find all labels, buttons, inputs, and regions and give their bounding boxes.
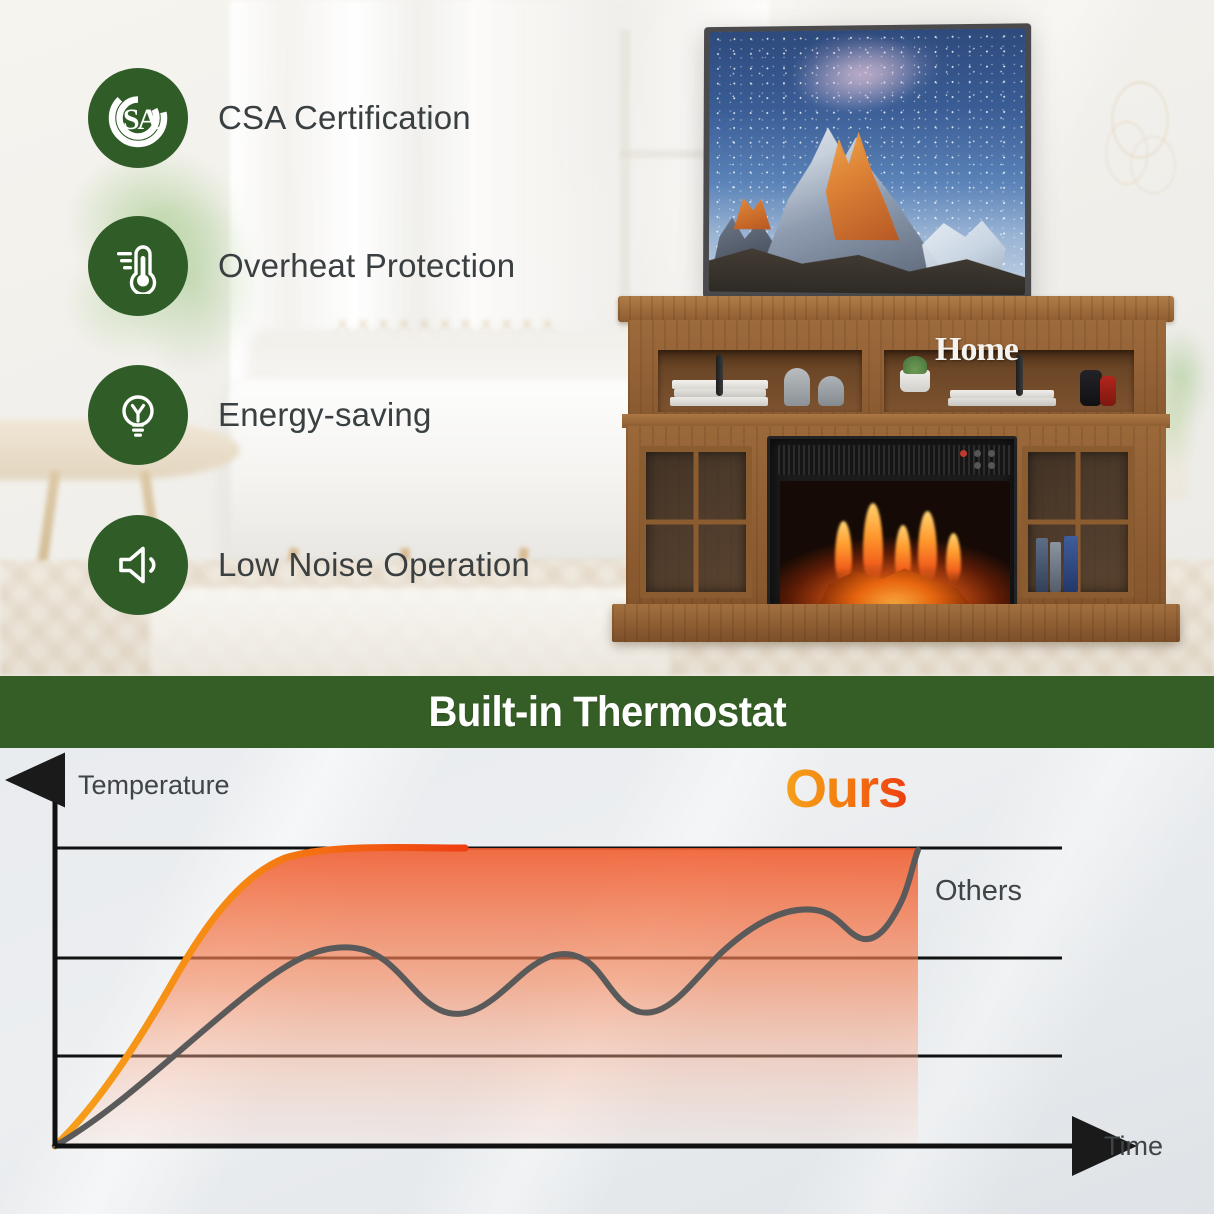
svg-text:SA: SA [123,103,160,136]
fireplace-tv-stand [612,296,1180,646]
power-button[interactable] [960,450,967,457]
x-axis-label: Time [1104,1131,1163,1162]
home-sign-decor: Home [935,331,1018,369]
flame [918,511,937,583]
chart-canvas [0,748,1214,1214]
figurine-decor [1080,370,1102,406]
book-in-cabinet [1050,542,1061,592]
feature-item-energy-saving: Energy-saving [88,365,432,465]
book-stack [950,390,1054,398]
cabinet-door-right[interactable] [1022,446,1134,598]
feature-label: Low Noise Operation [218,546,530,584]
vase-decor [818,376,844,406]
feature-label: CSA Certification [218,99,471,137]
small-plant [903,356,927,374]
control-button[interactable] [974,462,981,469]
section-banner: Built-in Thermostat [0,676,1214,748]
control-button[interactable] [988,450,995,457]
flame [946,533,961,583]
banner-title: Built-in Thermostat [428,688,786,737]
stand-top-surface [618,296,1174,322]
feature-label: Energy-saving [218,396,432,434]
flame [835,521,852,583]
ours-area-fill [55,847,918,1146]
fireplace-flame-window [780,481,1010,611]
cabinet-door-left[interactable] [640,446,752,598]
lightbulb-icon [88,365,188,465]
feature-item-csa-certification: SA CSA Certification [88,68,471,168]
window-frame-vertical [620,30,630,330]
cabinet-handle-left[interactable] [716,354,723,396]
book-in-cabinet [1036,538,1048,592]
book-stack [948,398,1056,406]
stand-upper-section [628,320,1166,416]
open-shelf-left [658,350,862,412]
product-infographic: Home SA CSA Certification [0,0,1214,1214]
feature-item-low-noise-operation: Low Noise Operation [88,515,530,615]
thermometer-icon [88,216,188,316]
feature-list: SA CSA Certification Overheat Protection [0,0,620,676]
television [700,25,1030,300]
others-series-label: Others [935,875,1022,908]
speaker-icon [88,515,188,615]
fireplace-control-panel[interactable] [960,449,1002,473]
stacked-stones-decor [784,368,810,406]
ours-series-label: Ours [785,758,907,820]
flame [863,503,883,583]
wall-art-decor [1085,60,1195,210]
csa-certification-icon: SA [88,68,188,168]
figurine-decor [1100,376,1116,406]
electric-fireplace-insert [767,436,1017,616]
temperature-time-chart: Temperature Time Others Ours [0,748,1214,1214]
book-stack [670,397,768,406]
tv-bezel [703,23,1031,302]
stand-base-plinth [612,604,1180,642]
y-axis-label: Temperature [78,770,230,801]
door-mullion-horizontal [1028,520,1128,525]
control-button[interactable] [988,462,995,469]
feature-item-overheat-protection: Overheat Protection [88,216,515,316]
tv-screen [709,28,1025,295]
book-in-cabinet [1064,536,1078,592]
control-button[interactable] [974,450,981,457]
feature-label: Overheat Protection [218,247,515,285]
door-mullion-horizontal [646,520,746,525]
